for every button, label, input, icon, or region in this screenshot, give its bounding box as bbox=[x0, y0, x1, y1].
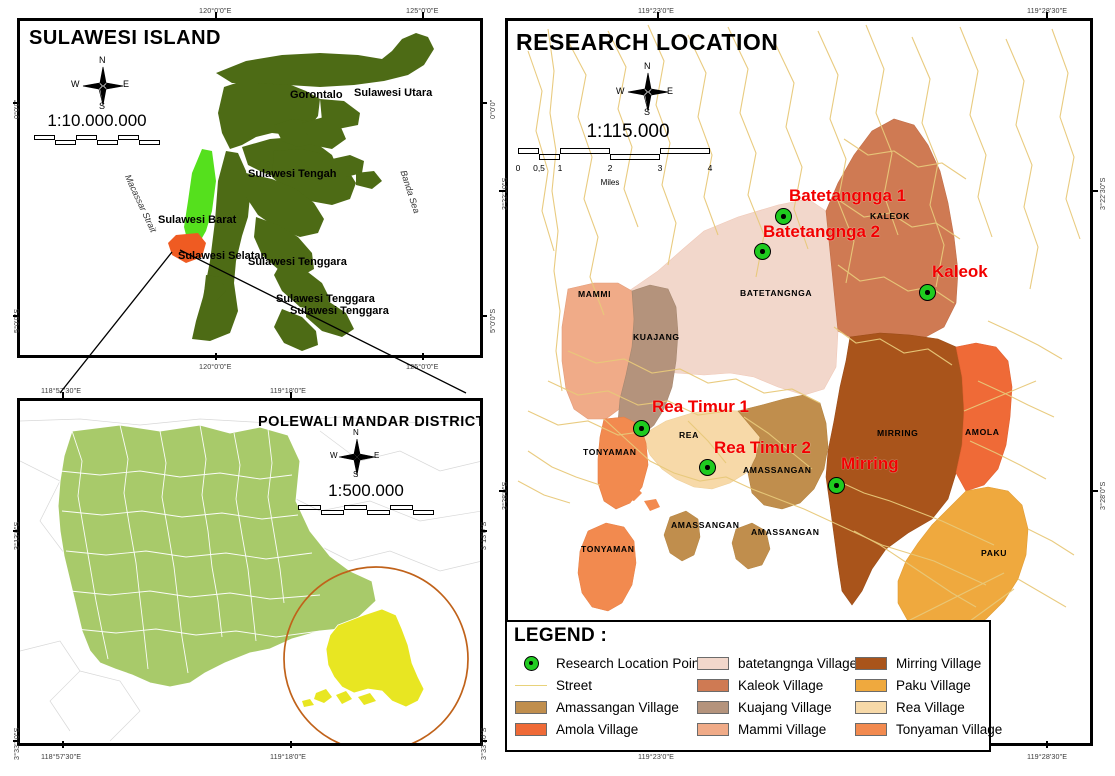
coord-sulawesi-bottom-1: 120°0'0"E bbox=[199, 362, 231, 371]
village-label-paku: PAKU bbox=[981, 548, 1007, 558]
color-swatch bbox=[855, 701, 887, 714]
color-swatch bbox=[697, 701, 729, 714]
color-swatch bbox=[697, 679, 729, 692]
compass-rose-research: N S W E bbox=[620, 67, 676, 119]
village-label-mammi: MAMMI bbox=[578, 289, 611, 299]
coord-district-right-1: 3°13'0"S bbox=[479, 522, 488, 550]
color-swatch bbox=[515, 701, 547, 714]
tick-research-right-1 bbox=[1091, 190, 1098, 192]
coord-district-top-2: 119°18'0"E bbox=[270, 386, 306, 395]
legend-label: Street bbox=[556, 678, 592, 693]
research-label-rea-timur-2: Rea Timur 2 bbox=[714, 438, 811, 458]
compass-rose-sulawesi: N S W E bbox=[74, 59, 132, 113]
scale-text-sulawesi: 1:10.000.000 bbox=[34, 111, 160, 131]
village-label-tonyaman-island: TONYAMAN bbox=[581, 544, 635, 554]
village-label-amassangan-island-2: AMASSANGAN bbox=[751, 527, 820, 537]
tick-research-left-2 bbox=[499, 490, 506, 492]
tick-research-top-1 bbox=[657, 12, 659, 19]
legend-title: LEGEND : bbox=[514, 625, 607, 647]
village-label-batetangnga: BATETANGNGA bbox=[740, 288, 812, 298]
legend-label: Paku Village bbox=[896, 678, 971, 693]
legend-item-mirring-village[interactable]: Mirring Village bbox=[855, 652, 1005, 674]
tick-sulawesi-left-1 bbox=[13, 102, 19, 104]
village-label-kaleok: KALEOK bbox=[870, 211, 910, 221]
research-label-rea-timur-1: Rea Timur 1 bbox=[652, 397, 749, 417]
legend-item-kaleok-village[interactable]: Kaleok Village bbox=[697, 674, 857, 696]
legend-label: batetangnga Village bbox=[738, 656, 857, 671]
coord-research-right-1: 3°22'30"S bbox=[1098, 178, 1107, 210]
street-line-icon bbox=[515, 685, 547, 686]
scalebar-tick-05: 0,5 bbox=[533, 163, 545, 173]
legend-label: Research Location Points bbox=[556, 656, 710, 671]
scalebar-tick-2: 2 bbox=[608, 163, 613, 173]
label-sulawesi-tengah: Sulawesi Tengah bbox=[248, 168, 336, 180]
label-sulawesi-tenggara-3: Sulawesi Tenggara bbox=[290, 305, 389, 317]
research-label-mirring: Mirring bbox=[841, 454, 899, 474]
coord-district-left-2: 3°33'30"S bbox=[12, 728, 21, 760]
research-point-batetangnga-2[interactable] bbox=[754, 243, 771, 260]
tick-sulawesi-left-2 bbox=[13, 315, 19, 317]
legend-label: Amassangan Village bbox=[556, 700, 679, 715]
village-label-kuajang: KUAJANG bbox=[633, 332, 680, 342]
legend-column-2: batetangnga Village Kaleok Village Kuaja… bbox=[697, 652, 857, 740]
label-sulawesi-tenggara-1: Sulawesi Tenggara bbox=[248, 256, 347, 268]
village-label-mirring: MIRRING bbox=[877, 428, 918, 438]
legend-box: LEGEND : Research Location Points Street… bbox=[505, 620, 991, 752]
coord-district-bottom-2: 119°18'0"E bbox=[270, 752, 306, 761]
tick-district-bottom-1 bbox=[62, 741, 64, 748]
coord-research-bottom-1: 119°23'0"E bbox=[638, 752, 674, 761]
research-label-kaleok: Kaleok bbox=[932, 262, 988, 282]
tick-sulawesi-bottom-1 bbox=[215, 353, 217, 360]
village-label-amassangan-island-1: AMASSANGAN bbox=[671, 520, 740, 530]
compass-label-n: N bbox=[644, 61, 651, 71]
scale-text-district: 1:500.000 bbox=[298, 481, 434, 501]
research-panel-title: RESEARCH LOCATION bbox=[516, 29, 778, 56]
compass-label-n: N bbox=[99, 55, 106, 65]
legend-label: Amola Village bbox=[556, 722, 638, 737]
color-swatch bbox=[855, 723, 887, 736]
tick-district-top-2 bbox=[290, 392, 292, 399]
tick-district-bottom-2 bbox=[290, 741, 292, 748]
legend-item-paku-village[interactable]: Paku Village bbox=[855, 674, 1005, 696]
panel-polewali-mandar-district: POLEWALI MANDAR DISTRICT N S W E 1:500.0… bbox=[17, 398, 483, 746]
coord-research-left-1: 3°22'30"S bbox=[500, 178, 509, 210]
legend-column-3: Mirring Village Paku Village Rea Village… bbox=[855, 652, 1005, 740]
tick-research-right-2 bbox=[1091, 490, 1098, 492]
color-swatch bbox=[855, 679, 887, 692]
label-sulawesi-utara: Sulawesi Utara bbox=[354, 87, 432, 99]
legend-item-research-points[interactable]: Research Location Points bbox=[515, 652, 705, 674]
scalebar-tick-1: 1 bbox=[558, 163, 563, 173]
tick-sulawesi-top-2 bbox=[422, 12, 424, 19]
tick-sulawesi-top-1 bbox=[215, 12, 217, 19]
coord-sulawesi-bottom-2: 125°0'0"E bbox=[406, 362, 438, 371]
research-point-mirring[interactable] bbox=[828, 477, 845, 494]
research-point-rea-timur-2[interactable] bbox=[699, 459, 716, 476]
legend-item-batetangnga-village[interactable]: batetangnga Village bbox=[697, 652, 857, 674]
legend-item-mammi-village[interactable]: Mammi Village bbox=[697, 718, 857, 740]
research-label-batetangnga-2: Batetangnga 2 bbox=[763, 222, 880, 242]
sulawesi-panel-title: SULAWESI ISLAND bbox=[29, 27, 221, 50]
scalebar-sulawesi: 1:10.000.000 bbox=[34, 111, 160, 145]
scalebar-research: 1:115.000 0 0,5 1 2 3 4 Miles bbox=[518, 121, 738, 160]
coord-sulawesi-left-2: 5°0'0"S bbox=[12, 309, 21, 333]
legend-column-1: Research Location Points Street Amassang… bbox=[515, 652, 705, 740]
tick-research-top-2 bbox=[1046, 12, 1048, 19]
polewali-mandar-map bbox=[20, 401, 480, 743]
compass-label-n: N bbox=[353, 428, 359, 437]
research-point-rea-timur-1[interactable] bbox=[633, 420, 650, 437]
compass-label-e: E bbox=[667, 86, 673, 96]
legend-item-amola-village[interactable]: Amola Village bbox=[515, 718, 705, 740]
scalebar-tick-3: 3 bbox=[658, 163, 663, 173]
coord-research-bottom-2: 119°28'30"E bbox=[1027, 752, 1067, 761]
tick-sulawesi-right-1 bbox=[481, 102, 487, 104]
tick-sulawesi-right-2 bbox=[481, 315, 487, 317]
research-point-kaleok[interactable] bbox=[919, 284, 936, 301]
tick-research-bottom-2 bbox=[1046, 741, 1048, 748]
compass-label-e: E bbox=[374, 451, 379, 460]
compass-label-e: E bbox=[123, 79, 129, 89]
scalebar-tick-4: 4 bbox=[708, 163, 713, 173]
compass-label-w: W bbox=[330, 451, 338, 460]
compass-label-w: W bbox=[616, 86, 625, 96]
map-figure: Gorontalo Sulawesi Utara Sulawesi Tengah… bbox=[0, 0, 1115, 776]
legend-label: Kuajang Village bbox=[738, 700, 832, 715]
color-swatch bbox=[697, 657, 729, 670]
scalebar-district: 1:500.000 bbox=[298, 481, 434, 515]
color-swatch bbox=[697, 723, 729, 736]
legend-item-amassangan-village[interactable]: Amassangan Village bbox=[515, 696, 705, 718]
legend-label: Tonyaman Village bbox=[896, 722, 1002, 737]
coord-district-right-2: 3°33'30"S bbox=[479, 728, 488, 760]
village-label-amola: AMOLA bbox=[965, 427, 1000, 437]
legend-label: Mammi Village bbox=[738, 722, 826, 737]
coord-district-left-1: 3°13'0"S bbox=[12, 522, 21, 550]
legend-label: Kaleok Village bbox=[738, 678, 823, 693]
legend-label: Rea Village bbox=[896, 700, 965, 715]
color-swatch bbox=[855, 657, 887, 670]
village-label-rea: REA bbox=[679, 430, 699, 440]
label-sulawesi-tenggara-2: Sulawesi Tenggara bbox=[276, 293, 375, 305]
legend-item-street[interactable]: Street bbox=[515, 674, 705, 696]
tick-sulawesi-bottom-2 bbox=[422, 353, 424, 360]
label-sulawesi-barat: Sulawesi Barat bbox=[158, 214, 236, 226]
legend-item-kuajang-village[interactable]: Kuajang Village bbox=[697, 696, 857, 718]
tick-district-right-1 bbox=[481, 530, 487, 532]
panel-sulawesi-island: Gorontalo Sulawesi Utara Sulawesi Tengah… bbox=[17, 18, 483, 358]
scale-text-research: 1:115.000 bbox=[518, 121, 738, 143]
coord-district-bottom-1: 118°57'30"E bbox=[41, 752, 81, 761]
legend-item-rea-village[interactable]: Rea Village bbox=[855, 696, 1005, 718]
coord-research-right-2: 3°28'0"S bbox=[1098, 482, 1107, 510]
color-swatch bbox=[515, 723, 547, 736]
coord-sulawesi-right-1: 0°0'0" bbox=[488, 100, 497, 119]
legend-item-tonyaman-village[interactable]: Tonyaman Village bbox=[855, 718, 1005, 740]
scalebar-unit: Miles bbox=[601, 178, 620, 187]
tick-district-left-1 bbox=[13, 530, 19, 532]
village-label-tonyaman-north: TONYAMAN bbox=[583, 447, 637, 457]
tick-district-right-2 bbox=[481, 740, 487, 742]
compass-label-w: W bbox=[71, 79, 80, 89]
tick-district-left-2 bbox=[13, 740, 19, 742]
scalebar-tick-0: 0 bbox=[516, 163, 521, 173]
coord-sulawesi-right-2: 5°0'0"S bbox=[488, 309, 497, 333]
compass-rose-district: N S W E bbox=[332, 433, 382, 481]
legend-label: Mirring Village bbox=[896, 656, 981, 671]
coord-research-left-2: 3°28'0"S bbox=[500, 482, 509, 510]
research-point-icon bbox=[515, 656, 547, 671]
label-gorontalo: Gorontalo bbox=[290, 89, 343, 101]
research-label-batetangnga-1: Batetangnga 1 bbox=[789, 186, 906, 206]
compass-label-s: S bbox=[353, 470, 358, 479]
compass-label-s: S bbox=[644, 107, 650, 117]
tick-research-left-1 bbox=[499, 190, 506, 192]
district-panel-title: POLEWALI MANDAR DISTRICT bbox=[258, 414, 480, 430]
tick-district-top-1 bbox=[62, 392, 64, 399]
compass-label-s: S bbox=[99, 101, 105, 111]
village-label-amassangan-main: AMASSANGAN bbox=[743, 465, 812, 475]
